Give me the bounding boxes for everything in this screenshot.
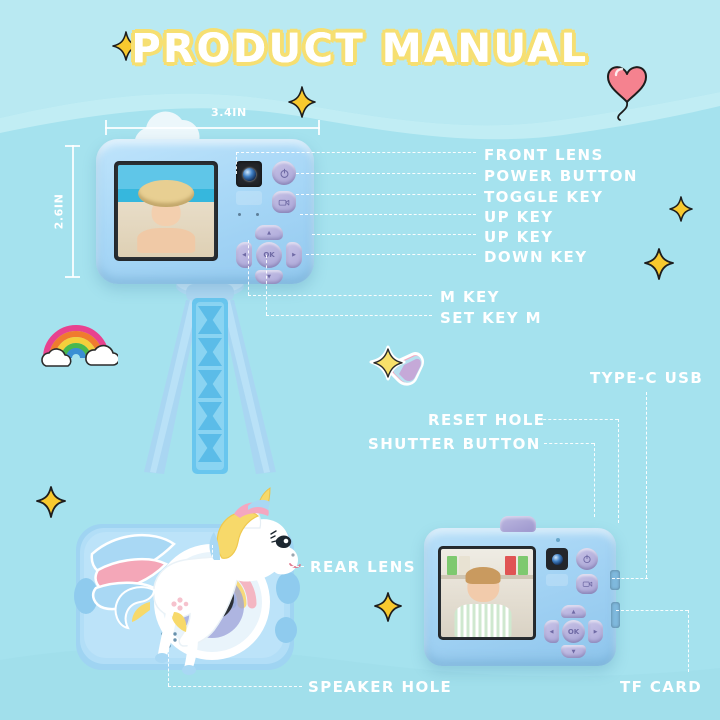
camera-unicorn-rear-body xyxy=(62,484,322,684)
toggle-icon xyxy=(278,198,290,207)
set-key-label: ▶ xyxy=(292,252,296,258)
star-right-lower-icon xyxy=(644,248,674,280)
set-key-button[interactable]: ▶ xyxy=(286,242,302,268)
page-title: PRODUCT MANUAL xyxy=(0,26,720,72)
indicator-dot-left xyxy=(238,213,241,216)
label-set-key-m: SET KEY M xyxy=(440,309,542,327)
label-speaker-hole: SPEAKER HOLE xyxy=(308,678,452,696)
rear-power-button[interactable] xyxy=(576,548,598,570)
photo-book-1 xyxy=(447,556,457,575)
power-button[interactable] xyxy=(272,161,296,185)
label-tf-card: TF CARD xyxy=(620,678,702,696)
label-down-key: DOWN KEY xyxy=(484,248,587,266)
photo-book-4 xyxy=(518,556,528,575)
front-lens-glass xyxy=(243,168,256,181)
photo-shirt xyxy=(455,604,512,637)
m-key-label: ◀ xyxy=(242,252,246,258)
rear-set-key-button[interactable]: ▶ xyxy=(588,620,603,643)
product-manual-infographic: PRODUCT MANUAL xyxy=(0,0,720,720)
dim-height-cap-bottom xyxy=(65,276,80,278)
label-rear-lens: REAR LENS xyxy=(310,558,416,576)
front-mic-strip xyxy=(236,191,262,205)
tripod xyxy=(120,276,300,476)
label-reset-hole: RESET HOLE xyxy=(428,411,545,429)
m-key-button[interactable]: ◀ xyxy=(236,242,252,268)
rear-toggle-key-button[interactable] xyxy=(576,574,598,594)
rear-ok-button[interactable]: OK xyxy=(562,620,585,643)
label-up-key-1: UP KEY xyxy=(484,208,554,226)
camera-rear-body: ▲ ◀ OK ▶ ▼ xyxy=(424,528,616,666)
star-right-upper-icon xyxy=(669,196,693,222)
camera-rear-screen xyxy=(438,546,536,640)
dim-width-line xyxy=(105,127,320,129)
rear-down-key-button[interactable]: ▼ xyxy=(561,645,586,658)
power-icon xyxy=(582,554,592,564)
toggle-key-button[interactable] xyxy=(272,191,296,213)
dim-height-cap-top xyxy=(65,145,80,147)
dim-height-label: 2.6IN xyxy=(53,194,66,230)
down-key-button[interactable]: ▼ xyxy=(255,270,283,284)
screen-photo-child xyxy=(441,549,533,637)
label-shutter-button: SHUTTER BUTTON xyxy=(368,435,541,453)
dim-height-line xyxy=(72,145,74,277)
tf-card-slot xyxy=(611,602,620,628)
dim-width-cap-left xyxy=(105,120,107,135)
rear-down-key-label: ▼ xyxy=(572,649,576,655)
up-key-button[interactable]: ▲ xyxy=(255,225,283,240)
shutter-button[interactable] xyxy=(500,516,536,532)
rear-up-key-label: ▲ xyxy=(572,609,576,615)
rainbow-cloud-sticker xyxy=(34,312,118,368)
photo-child-hair xyxy=(466,567,501,585)
label-m-key: M KEY xyxy=(440,288,500,306)
down-key-label: ▼ xyxy=(267,274,271,280)
photo-book-3 xyxy=(505,556,515,575)
toggle-icon xyxy=(582,580,593,588)
rear-m-key-label: ◀ xyxy=(550,629,554,635)
label-power-button: POWER BUTTON xyxy=(484,167,638,185)
camera-front-body: ▲ ◀ OK ▶ ▼ xyxy=(96,139,314,284)
rear-camera-lens-glass xyxy=(552,554,563,565)
rear-mic-strip xyxy=(546,574,568,586)
label-up-key-2: UP KEY xyxy=(484,228,554,246)
dim-width-cap-right xyxy=(318,120,320,135)
power-icon xyxy=(279,168,290,179)
rear-m-key-button[interactable]: ◀ xyxy=(544,620,559,643)
photo-hat xyxy=(138,180,194,208)
indicator-dot-right xyxy=(256,213,259,216)
rear-ok-button-label: OK xyxy=(568,628,579,636)
up-key-label: ▲ xyxy=(267,230,271,236)
ok-button-label: OK xyxy=(263,251,274,259)
label-type-c-usb: TYPE-C USB xyxy=(590,369,703,387)
star-below-title-icon xyxy=(288,86,316,118)
rear-camera-lens xyxy=(546,548,568,570)
shooting-star-sticker xyxy=(366,344,428,396)
rear-up-key-button[interactable]: ▲ xyxy=(561,605,586,618)
front-lens xyxy=(236,161,262,187)
rear-set-key-label: ▶ xyxy=(594,629,598,635)
ok-button[interactable]: OK xyxy=(256,242,282,268)
dim-width-label: 3.4IN xyxy=(211,106,247,119)
star-left-mid-icon xyxy=(36,486,66,518)
screen-photo-beach xyxy=(118,165,214,257)
label-toggle-key: TOGGLE KEY xyxy=(484,188,603,206)
reset-hole xyxy=(556,538,560,542)
type-c-usb-port xyxy=(610,570,620,590)
label-front-lens: FRONT LENS xyxy=(484,146,604,164)
camera-front-screen xyxy=(114,161,218,261)
page-title-text: PRODUCT MANUAL xyxy=(131,26,588,72)
photo-body xyxy=(137,228,195,254)
star-bottom-mid-icon xyxy=(374,592,402,622)
